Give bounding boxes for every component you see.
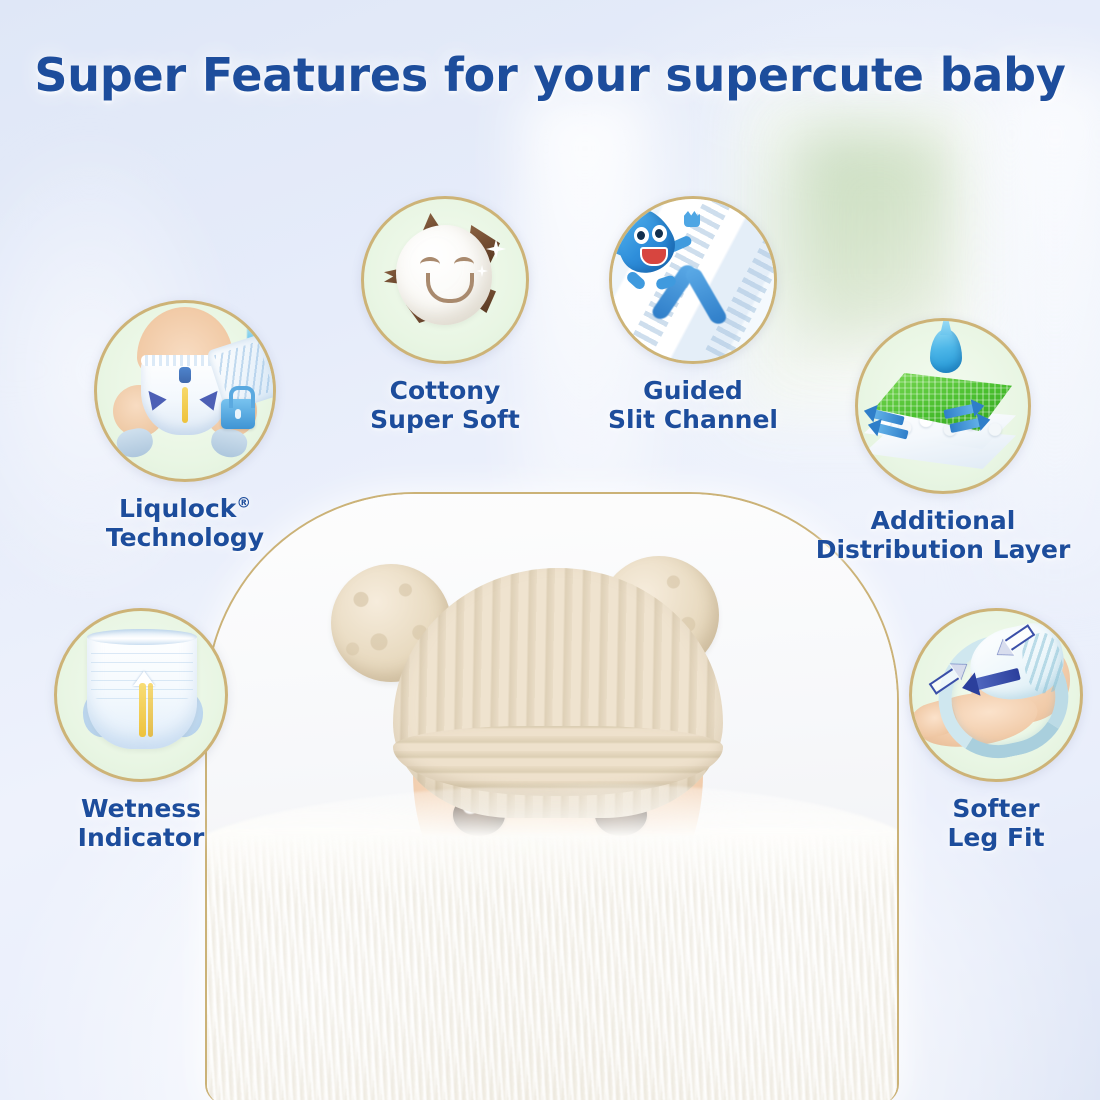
adl-icon-circle[interactable] <box>855 318 1031 494</box>
feature-label-liqulock: Liqulock®Technology <box>75 494 295 552</box>
liqulock-line1: Liqulock <box>119 494 236 523</box>
wetness-indicator-strip-second <box>148 683 153 737</box>
droplet-eye-right <box>652 225 667 242</box>
wetness-indicator-icon-circle[interactable] <box>54 608 228 782</box>
background-blurred-greenery <box>800 130 950 340</box>
feature-label-softer-leg-fit: Softer Leg Fit <box>880 794 1100 852</box>
wetness-indicator-strip <box>139 683 146 737</box>
pant-waistband <box>87 629 197 645</box>
diaper-brand-mark <box>179 367 191 383</box>
fur-rug-fibers <box>207 834 897 1100</box>
feature-softer-leg-fit[interactable]: Softer Leg Fit <box>880 608 1100 852</box>
droplet-eye-left <box>634 227 649 244</box>
feature-cottony-super-soft[interactable]: Cottony Super Soft <box>340 196 550 434</box>
feature-label-guided-slit-channel: Guided Slit Channel <box>588 376 798 434</box>
baby-photo <box>207 494 897 1100</box>
baby-photo-frame <box>205 492 899 1100</box>
feature-guided-slit-channel[interactable]: Guided Slit Channel <box>588 196 798 434</box>
water-droplet-icon <box>930 329 962 373</box>
product-feature-poster: Super Features for your supercute baby <box>0 0 1100 1100</box>
liqulock-line2: Technology <box>106 523 264 552</box>
cottony-icon-circle[interactable] <box>361 196 529 364</box>
padlock-icon <box>221 399 255 429</box>
feature-label-additional-distribution-layer: Additional Distribution Layer <box>808 506 1078 564</box>
feature-label-wetness-indicator: Wetness Indicator <box>28 794 254 852</box>
cotton-eye-left <box>420 257 440 272</box>
liqulock-icon-circle[interactable] <box>94 300 276 482</box>
feature-additional-distribution-layer[interactable]: Additional Distribution Layer <box>808 318 1078 564</box>
registered-trademark-icon: ® <box>236 496 251 512</box>
diaper-wetness-strip <box>182 387 188 423</box>
feature-liqulock-technology[interactable]: Liqulock®Technology <box>75 300 295 552</box>
droplet-hand-left <box>609 237 610 253</box>
guided-slit-icon-circle[interactable] <box>609 196 777 364</box>
softer-leg-fit-icon-circle[interactable] <box>909 608 1083 782</box>
feature-label-cottony: Cottony Super Soft <box>340 376 550 434</box>
cotton-eye-right <box>454 257 474 272</box>
feature-wetness-indicator[interactable]: Wetness Indicator <box>28 608 254 852</box>
page-title: Super Features for your supercute baby <box>0 48 1100 102</box>
